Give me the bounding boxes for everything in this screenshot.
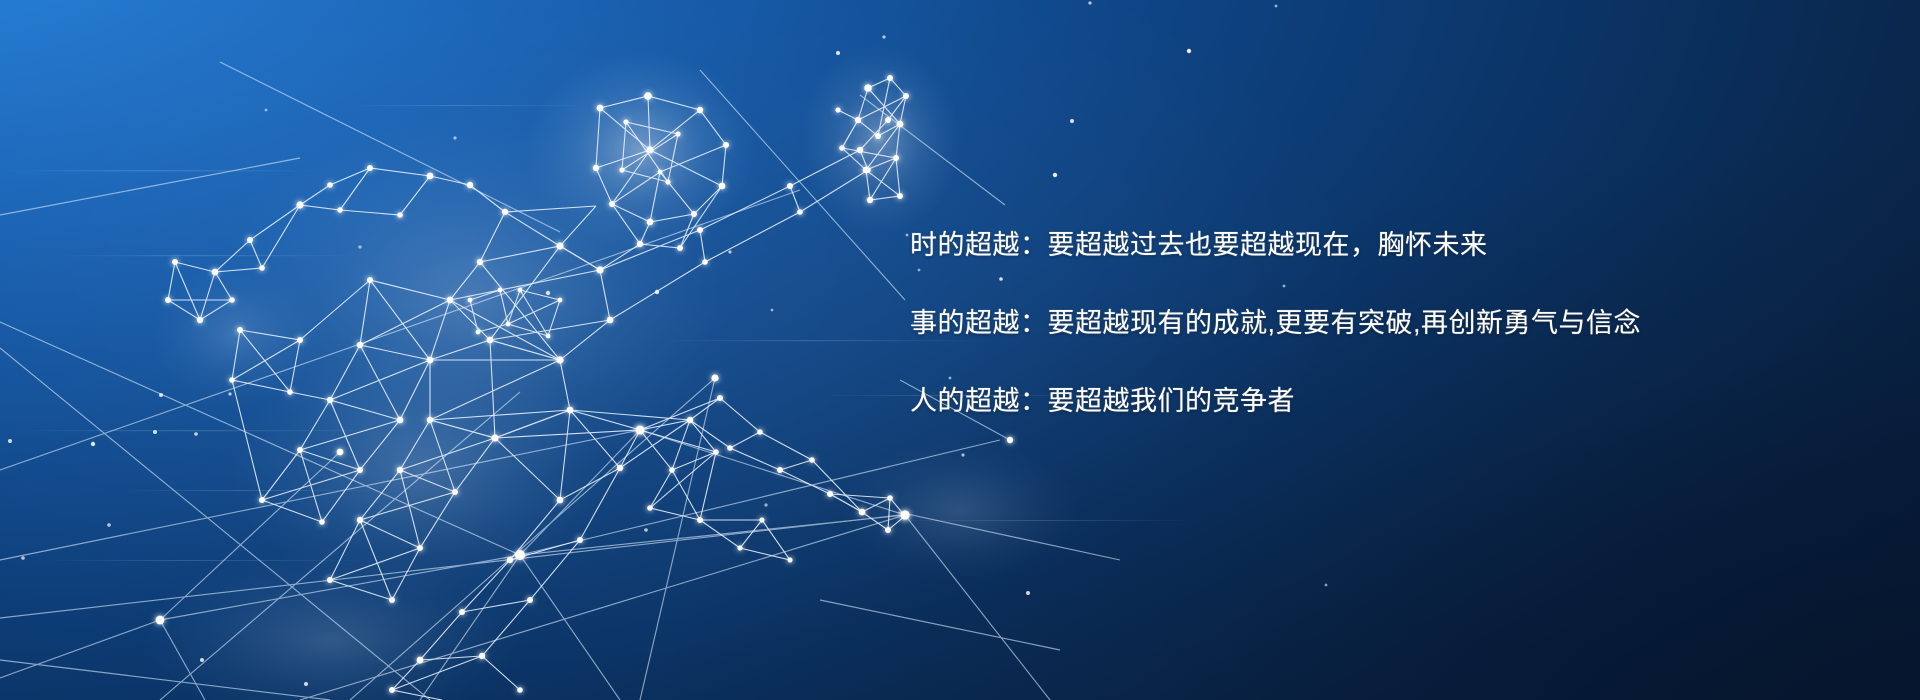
tagline-block: 时的超越：要超越过去也要超越现在，胸怀未来 事的超越：要超越现有的成就,更要有突… xyxy=(910,232,1830,415)
tagline-matter: 事的超越：要超越现有的成就,更要有突破,再创新勇气与信念 xyxy=(910,310,1830,337)
tagline-people: 人的超越：要超越我们的竞争者 xyxy=(910,388,1830,415)
tagline-time: 时的超越：要超越过去也要超越现在，胸怀未来 xyxy=(910,232,1830,259)
hero-banner: 时的超越：要超越过去也要超越现在，胸怀未来 事的超越：要超越现有的成就,更要有突… xyxy=(0,0,1920,700)
